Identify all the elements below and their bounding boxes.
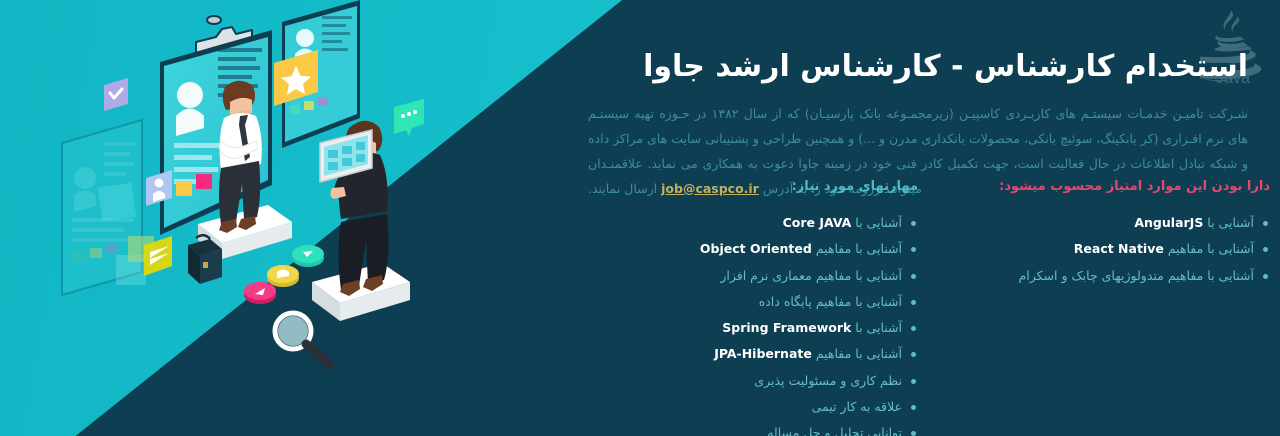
list-item: آشنایی با مفاهیم Object Oriented [620, 236, 918, 262]
skill-term: Core JAVA [783, 215, 852, 230]
skill-term: AngularJS [1134, 215, 1203, 230]
bonus-skills-list: آشنایی با AngularJS آشنایی با مفاهیم Rea… [950, 210, 1270, 289]
skill-text: نظم کاری و مسئولیت پذیری [754, 373, 902, 388]
page-title: استخدام کارشناس - کارشناس ارشد جاوا [643, 48, 1248, 86]
skill-text: توانایی تحلیل و حل مساله [767, 425, 902, 436]
list-item: آشنایی با مفاهیم معماری نرم افزار [620, 263, 918, 289]
skill-text: آشنایی با [851, 320, 902, 335]
skill-text: آشنایی با مفاهیم [1164, 241, 1254, 256]
job-banner: Java استخدام کارشناس - کارشناس ارشد جاوا… [0, 0, 1280, 436]
list-item: آشنایی با مفاهیم پایگاه داده [620, 289, 918, 315]
skill-text: آشنایی با مفاهیم [812, 241, 902, 256]
list-item: توانایی تحلیل و حل مساله [620, 420, 918, 436]
recruitment-illustration [0, 0, 440, 436]
required-skills-list: آشنایی با Core JAVA آشنایی با مفاهیم Obj… [620, 210, 918, 436]
list-item: آشنایی با AngularJS [950, 210, 1270, 236]
list-item: آشنایی با مفاهیم React Native [950, 236, 1270, 262]
list-item: آشنایی با Core JAVA [620, 210, 918, 236]
job-content: استخدام کارشناس - کارشناس ارشد جاوا شـرک… [580, 0, 1280, 436]
skill-term: React Native [1074, 241, 1164, 256]
required-skills-heading: مهارتهای مورد نیاز: [620, 178, 918, 196]
skill-text: آشنایی با [851, 215, 902, 230]
required-skills-column: مهارتهای مورد نیاز: آشنایی با Core JAVA … [620, 178, 950, 428]
list-item: آشنایی با Spring Framework [620, 315, 918, 341]
skill-term: Object Oriented [700, 241, 812, 256]
skill-text: آشنایی با مفاهیم متدولوژیهای چابک و اسکر… [1019, 268, 1254, 283]
list-item: نظم کاری و مسئولیت پذیری [620, 368, 918, 394]
skill-text: علاقه به کار تیمی [812, 399, 902, 414]
list-item: آشنایی با مفاهیم JPA-Hibernate [620, 341, 918, 367]
skill-text: آشنایی با [1203, 215, 1254, 230]
skills-columns: دارا بودن این موارد امتیاز محسوب میشود: … [580, 178, 1280, 428]
skill-term: JPA-Hibernate [714, 346, 812, 361]
list-item: علاقه به کار تیمی [620, 394, 918, 420]
skill-text: آشنایی با مفاهیم معماری نرم افزار [720, 268, 902, 283]
skill-term: Spring Framework [722, 320, 851, 335]
list-item: آشنایی با مفاهیم متدولوژیهای چابک و اسکر… [950, 263, 1270, 289]
bonus-skills-heading: دارا بودن این موارد امتیاز محسوب میشود: [950, 178, 1270, 196]
skill-text: آشنایی با مفاهیم پایگاه داده [759, 294, 902, 309]
skill-text: آشنایی با مفاهیم [812, 346, 902, 361]
bonus-skills-column: دارا بودن این موارد امتیاز محسوب میشود: … [950, 178, 1280, 428]
